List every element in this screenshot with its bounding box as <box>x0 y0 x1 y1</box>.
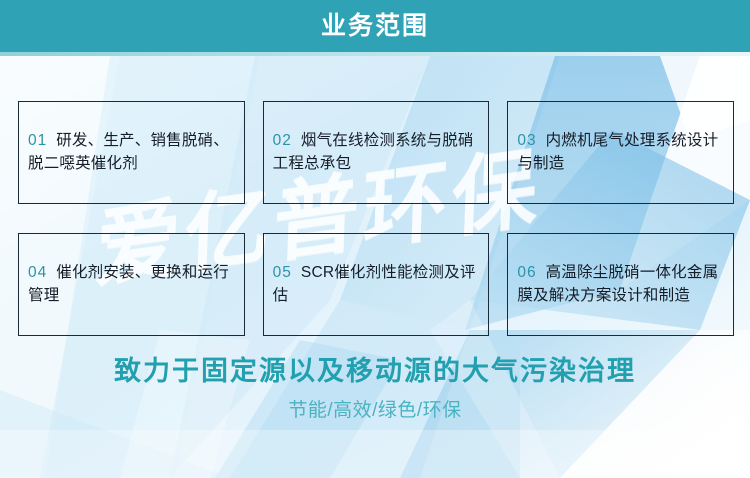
service-card[interactable]: 01研发、生产、销售脱硝、脱二噁英催化剂 <box>18 101 245 204</box>
service-card-grid: 01研发、生产、销售脱硝、脱二噁英催化剂 02烟气在线检测系统与脱硝工程总承包 … <box>18 101 734 336</box>
service-card[interactable]: 05SCR催化剂性能检测及评估 <box>263 233 490 336</box>
service-card-content: 05SCR催化剂性能检测及评估 <box>273 262 480 308</box>
tagline-headline: 致力于固定源以及移动源的大气污染治理 <box>0 355 750 389</box>
service-card-content: 01研发、生产、销售脱硝、脱二噁英催化剂 <box>28 130 235 176</box>
service-card-label: 研发、生产、销售脱硝、脱二噁英催化剂 <box>28 132 229 172</box>
service-card-number: 02 <box>273 132 301 149</box>
service-card-number: 04 <box>28 264 56 281</box>
page-title: 业务范围 <box>321 14 429 39</box>
service-card-number: 03 <box>517 132 545 149</box>
service-card[interactable]: 02烟气在线检测系统与脱硝工程总承包 <box>263 101 490 204</box>
service-card-label: 烟气在线检测系统与脱硝工程总承包 <box>273 132 474 172</box>
header-underline <box>0 52 750 56</box>
service-card-number: 06 <box>517 264 545 281</box>
service-card[interactable]: 04催化剂安装、更换和运行管理 <box>18 233 245 336</box>
service-card-label: SCR催化剂性能检测及评估 <box>273 264 476 304</box>
service-card-number: 01 <box>28 132 56 149</box>
service-card-content: 02烟气在线检测系统与脱硝工程总承包 <box>273 130 480 176</box>
service-card-content: 04催化剂安装、更换和运行管理 <box>28 262 235 308</box>
tagline-block: 致力于固定源以及移动源的大气污染治理 节能/高效/绿色/环保 <box>0 355 750 423</box>
service-card-label: 内燃机尾气处理系统设计与制造 <box>517 132 718 172</box>
service-card[interactable]: 03内燃机尾气处理系统设计与制造 <box>507 101 734 204</box>
tagline-subline: 节能/高效/绿色/环保 <box>0 400 750 423</box>
service-card-label: 高温除尘脱硝一体化金属膜及解决方案设计和制造 <box>517 264 718 304</box>
service-card-content: 03内燃机尾气处理系统设计与制造 <box>517 130 724 176</box>
service-card-content: 06高温除尘脱硝一体化金属膜及解决方案设计和制造 <box>517 262 724 308</box>
service-card-label: 催化剂安装、更换和运行管理 <box>28 264 229 304</box>
header-bar: 业务范围 <box>0 0 750 52</box>
promo-banner: 爱亿普环保 业务范围 01研发、生产、销售脱硝、脱二噁英催化剂 02烟气在线检测… <box>0 0 750 478</box>
service-card-number: 05 <box>273 264 301 281</box>
service-card[interactable]: 06高温除尘脱硝一体化金属膜及解决方案设计和制造 <box>507 233 734 336</box>
